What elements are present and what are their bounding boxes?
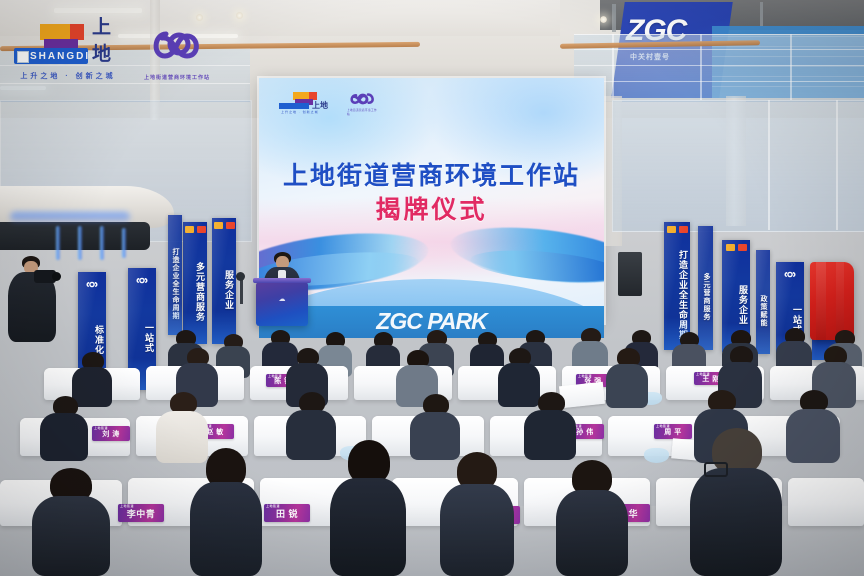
ceiling-spotlight bbox=[236, 12, 243, 19]
ceiling-pipe bbox=[760, 2, 763, 26]
screen-title: 上地街道营商环境工作站 bbox=[259, 156, 604, 192]
nameplate: 上地街道周 平 bbox=[654, 424, 692, 439]
desk-led bbox=[56, 226, 60, 260]
banner-create-env-r[interactable]: 打造企业全生命周期 bbox=[664, 222, 690, 350]
event-photo: ZGC 中关村壹号 ZGC bbox=[0, 0, 864, 576]
nameplate: 上地街道田 锐 bbox=[264, 504, 310, 522]
ceiling-spotlight bbox=[196, 14, 203, 21]
nameplate: 上地街道李中青 bbox=[118, 504, 164, 522]
audience-member bbox=[286, 392, 336, 458]
microphone-head bbox=[236, 272, 245, 281]
desk-led bbox=[78, 226, 82, 260]
podium-top bbox=[253, 278, 311, 283]
workstation-logo: 上地街道营商环境工作站 bbox=[144, 24, 210, 81]
cloud-knot-icon bbox=[347, 90, 377, 108]
banner-serve-enterprise[interactable]: 服务企业 bbox=[212, 218, 236, 344]
cloud-knot-icon bbox=[146, 24, 208, 66]
shangdi-logo-screen: 上地 上升之地 · 创新之城 bbox=[279, 92, 335, 116]
nameplate: 上地街道刘 涛 bbox=[92, 426, 130, 441]
eyeglasses-icon bbox=[704, 462, 728, 477]
seat[interactable] bbox=[788, 478, 864, 526]
wall-glass bbox=[612, 100, 864, 232]
podium-emblem: ☁ bbox=[256, 295, 308, 303]
desk-led bbox=[122, 228, 126, 258]
screen-logos: 上地 上升之地 · 创新之城 上地街道营商环境工作站 bbox=[279, 90, 377, 116]
workstation-tagline: 上地街道营商环境工作站 bbox=[144, 74, 210, 81]
covered-plaque[interactable] bbox=[810, 262, 854, 340]
speaker-podium: ☁ bbox=[256, 282, 308, 326]
ceiling-pipe bbox=[612, 4, 616, 32]
banner-text: 服务企业 bbox=[212, 240, 236, 340]
screen-logo-tagline: 上升之地 · 创新之城 bbox=[281, 110, 319, 114]
banner-text: 打造企业全生命周期 bbox=[664, 244, 690, 346]
audience-member-foreground bbox=[440, 452, 514, 576]
shangdi-tagline: 上升之地 · 创新之城 bbox=[20, 71, 115, 81]
shangdi-logo: SHANGDI 上地 上升之地 · 创新之城 bbox=[14, 22, 122, 81]
shangdi-latin: SHANGDI bbox=[30, 51, 90, 62]
banner-text: 打造企业全生命周期 bbox=[168, 237, 182, 331]
audience-member bbox=[524, 392, 576, 458]
workstation-logo-screen: 上地街道营商环境工作站 bbox=[347, 90, 377, 116]
banner-extra-r[interactable]: 政策赋能 bbox=[756, 250, 770, 354]
photographer bbox=[8, 256, 56, 342]
camera-lens-icon bbox=[52, 272, 61, 281]
reception-desk-base bbox=[0, 222, 150, 250]
audience-member-foreground bbox=[190, 448, 262, 576]
audience-member bbox=[40, 396, 88, 458]
glass-mullion bbox=[790, 34, 792, 100]
audience-member bbox=[606, 348, 648, 404]
banner-create-env[interactable]: 打造企业全生命周期 bbox=[168, 215, 182, 335]
banner-diverse[interactable]: 多元营商服务 bbox=[183, 222, 207, 344]
banner-text: 政策赋能 bbox=[756, 272, 770, 350]
screen-subtitle: 揭牌仪式 bbox=[259, 190, 604, 226]
desk-accent-light bbox=[10, 212, 130, 222]
ceiling-spotlight bbox=[600, 16, 607, 23]
audience-member-foreground bbox=[556, 460, 628, 576]
shangdi-wordmark: SHANGDI bbox=[14, 48, 88, 64]
face-mask bbox=[644, 448, 669, 463]
microphone-stand bbox=[240, 278, 243, 304]
shangdi-chinese: 上地 bbox=[92, 12, 122, 66]
audience-member bbox=[786, 390, 840, 460]
banner-text: 多元营商服务 bbox=[183, 244, 207, 340]
audience-member bbox=[410, 394, 460, 458]
screen-logo2-tagline: 上地街道营商环境工作站 bbox=[347, 108, 377, 116]
loudspeaker bbox=[618, 252, 642, 296]
audience-member-foreground-glasses bbox=[690, 428, 782, 576]
audience-member-foreground bbox=[330, 440, 406, 576]
audience-member-foreground bbox=[32, 468, 110, 576]
header-logo-overlay: SHANGDI 上地 上升之地 · 创新之城 上地街道营商环境工作站 bbox=[14, 22, 210, 81]
led-screen: 上地 上升之地 · 创新之城 上地街道营商环境工作站 上地街道营商环境工作站 揭… bbox=[259, 78, 604, 323]
desk-led bbox=[100, 226, 104, 260]
